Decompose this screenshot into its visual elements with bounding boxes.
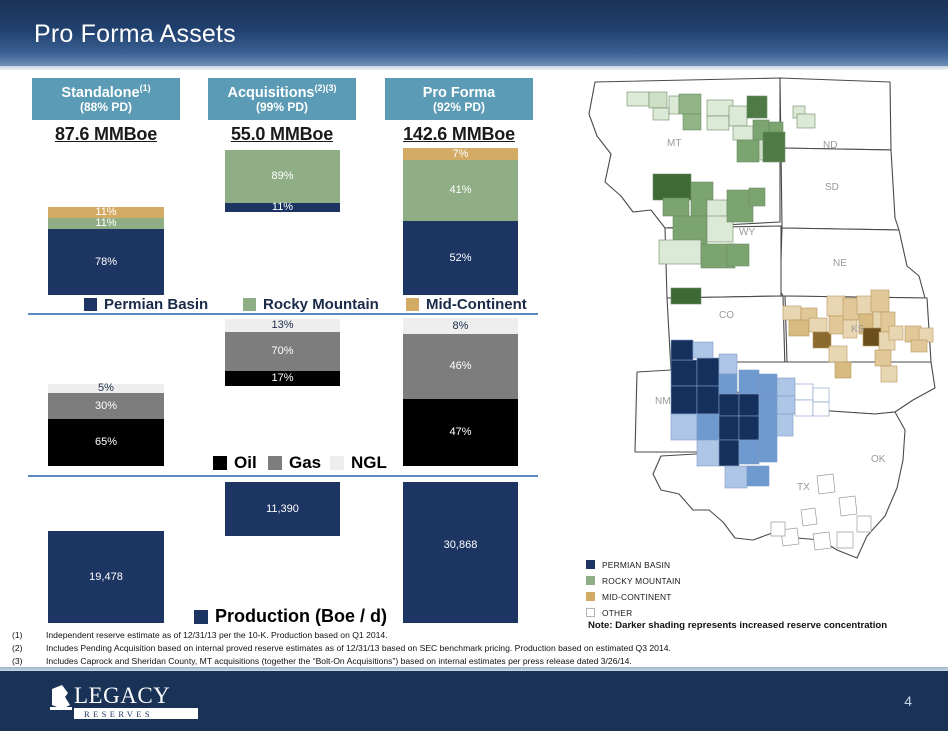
swatch-square-icon bbox=[586, 608, 595, 617]
reserves-map: MT ND SD WY NE CO KS OK NM TX bbox=[575, 70, 940, 570]
bar-segment-oil: 47% bbox=[403, 399, 518, 466]
bar-segment-gas: 70% bbox=[225, 332, 340, 371]
slide-canvas: Pro Forma Assets Standalone(1) (88% PD) … bbox=[0, 0, 948, 731]
state-label-wy: WY bbox=[739, 227, 755, 238]
bar-region-standalone: 11% 11% 78% bbox=[48, 207, 164, 295]
column-tab-pd: (99% PD) bbox=[256, 101, 308, 115]
swatch-square-icon bbox=[213, 456, 227, 470]
footnote-marker: (2) bbox=[12, 643, 38, 653]
swatch-square-icon bbox=[243, 298, 256, 311]
column-tab-label: Standalone(1) bbox=[61, 83, 150, 102]
footnote-text: Independent reserve estimate as of 12/31… bbox=[46, 630, 388, 640]
footnote-text: Includes Caprock and Sheridan County, MT… bbox=[46, 656, 632, 666]
legend-item-gas: Gas bbox=[268, 453, 321, 473]
state-label-ne: NE bbox=[833, 258, 847, 269]
column-tab-proforma[interactable]: Pro Forma (92% PD) bbox=[385, 78, 533, 120]
page-number: 4 bbox=[904, 693, 912, 709]
map-note: Note: Darker shading represents increase… bbox=[588, 620, 887, 631]
legend-label: Oil bbox=[234, 453, 257, 473]
map-legend: PERMIAN BASIN ROCKY MOUNTAIN MID-CONTINE… bbox=[586, 558, 681, 622]
bar-segment-rocky: 89% bbox=[225, 150, 340, 203]
swatch-square-icon bbox=[330, 456, 344, 470]
legend-label: Production (Boe / d) bbox=[215, 606, 387, 627]
legend-label: Gas bbox=[289, 453, 321, 473]
legacy-reserves-logo: LEGACY RESERVES bbox=[48, 681, 206, 723]
state-label-nm: NM bbox=[655, 396, 671, 407]
bar-segment-gas: 46% bbox=[403, 334, 518, 399]
bar-product-proforma: 8% 46% 47% bbox=[403, 318, 518, 466]
swatch-square-icon bbox=[268, 456, 282, 470]
bar-segment-oil: 17% bbox=[225, 371, 340, 386]
legend-item-oil: Oil bbox=[213, 453, 257, 473]
bar-region-proforma: 7% 41% 52% bbox=[403, 148, 518, 295]
total-standalone: 87.6 MMBoe bbox=[32, 124, 180, 146]
column-tab-label: Pro Forma bbox=[423, 83, 496, 102]
bar-product-standalone: 5% 30% 65% bbox=[48, 384, 164, 466]
bar-segment-gas: 30% bbox=[48, 393, 164, 419]
total-proforma: 142.6 MMBoe bbox=[385, 124, 533, 146]
column-tab-pd: (92% PD) bbox=[433, 101, 485, 115]
map-legend-label: ROCKY MOUNTAIN bbox=[602, 576, 681, 586]
state-label-ks: KS bbox=[851, 324, 865, 335]
bar-segment-midcontinent: 7% bbox=[403, 148, 518, 160]
swatch-square-icon bbox=[406, 298, 419, 311]
column-tab-standalone[interactable]: Standalone(1) (88% PD) bbox=[32, 78, 180, 120]
bar-segment-permian: 78% bbox=[48, 229, 164, 295]
logo-wordmark: LEGACY bbox=[74, 683, 170, 708]
map-legend-item-midcontinent: MID-CONTINENT bbox=[586, 590, 681, 604]
map-legend-label: MID-CONTINENT bbox=[602, 592, 672, 602]
swatch-square-icon bbox=[194, 610, 208, 624]
bar-production-acquisitions: 11,390 bbox=[225, 482, 340, 536]
section-divider-2 bbox=[28, 475, 538, 477]
legend-item-production: Production (Boe / d) bbox=[194, 606, 387, 627]
map-legend-item-other: OTHER bbox=[586, 606, 681, 620]
section-divider-1 bbox=[28, 313, 538, 315]
bar-segment-ngl: 13% bbox=[225, 319, 340, 332]
bar-segment-permian: 52% bbox=[403, 221, 518, 295]
bar-region-acquisitions: 89% 11% bbox=[225, 150, 340, 212]
state-label-ok: OK bbox=[871, 454, 886, 465]
swatch-square-icon bbox=[586, 592, 595, 601]
legend-item-ngl: NGL bbox=[330, 453, 387, 473]
total-acquisitions: 55.0 MMBoe bbox=[208, 124, 356, 146]
map-svg: MT ND SD WY NE CO KS OK NM TX bbox=[575, 70, 940, 570]
bar-segment-permian: 11% bbox=[225, 203, 340, 212]
bar-production-standalone: 19,478 bbox=[48, 531, 164, 623]
footnote-marker: (1) bbox=[12, 630, 38, 640]
map-legend-label: OTHER bbox=[602, 608, 632, 618]
logo-svg: LEGACY RESERVES bbox=[48, 681, 206, 723]
state-label-tx: TX bbox=[797, 482, 810, 493]
map-legend-item-permian: PERMIAN BASIN bbox=[586, 558, 681, 572]
bar-product-acquisitions: 13% 70% 17% bbox=[225, 319, 340, 386]
bar-value-label-proforma: 30,868 bbox=[403, 482, 518, 623]
page-title: Pro Forma Assets bbox=[34, 20, 236, 49]
footnote-text: Includes Pending Acquisition based on in… bbox=[46, 643, 671, 653]
state-label-co: CO bbox=[719, 310, 734, 321]
column-tab-pd: (88% PD) bbox=[80, 101, 132, 115]
legend-item-mid-continent: Mid-Continent bbox=[406, 296, 527, 313]
legend-label: Permian Basin bbox=[104, 296, 208, 313]
legend-label: NGL bbox=[351, 453, 387, 473]
state-label-nd: ND bbox=[823, 140, 837, 151]
map-legend-item-rocky: ROCKY MOUNTAIN bbox=[586, 574, 681, 588]
column-tab-label: Acquisitions(2)(3) bbox=[227, 83, 336, 102]
logo-subtext: RESERVES bbox=[84, 709, 153, 719]
bar-segment-oil: 65% bbox=[48, 419, 164, 466]
slide-header: Pro Forma Assets bbox=[0, 0, 948, 66]
swatch-square-icon bbox=[586, 576, 595, 585]
footnote-marker: (3) bbox=[12, 656, 38, 666]
swatch-square-icon bbox=[586, 560, 595, 569]
state-label-mt: MT bbox=[667, 138, 681, 149]
column-tab-acquisitions[interactable]: Acquisitions(2)(3) (99% PD) bbox=[208, 78, 356, 120]
bar-production-proforma: 30,868 bbox=[403, 482, 518, 623]
bar-value-label-acquisitions: 11,390 bbox=[225, 482, 340, 536]
bar-segment-rocky: 11% bbox=[48, 218, 164, 229]
bar-segment-ngl: 5% bbox=[48, 384, 164, 393]
swatch-square-icon bbox=[84, 298, 97, 311]
legend-item-rocky-mountain: Rocky Mountain bbox=[243, 296, 379, 313]
bar-value-label-standalone: 19,478 bbox=[48, 531, 164, 623]
map-legend-label: PERMIAN BASIN bbox=[602, 560, 670, 570]
state-label-sd: SD bbox=[825, 182, 839, 193]
bar-segment-ngl: 8% bbox=[403, 318, 518, 334]
legend-item-permian-basin: Permian Basin bbox=[84, 296, 208, 313]
legend-label: Mid-Continent bbox=[426, 296, 527, 313]
legend-label: Rocky Mountain bbox=[263, 296, 379, 313]
bar-segment-rocky: 41% bbox=[403, 160, 518, 221]
